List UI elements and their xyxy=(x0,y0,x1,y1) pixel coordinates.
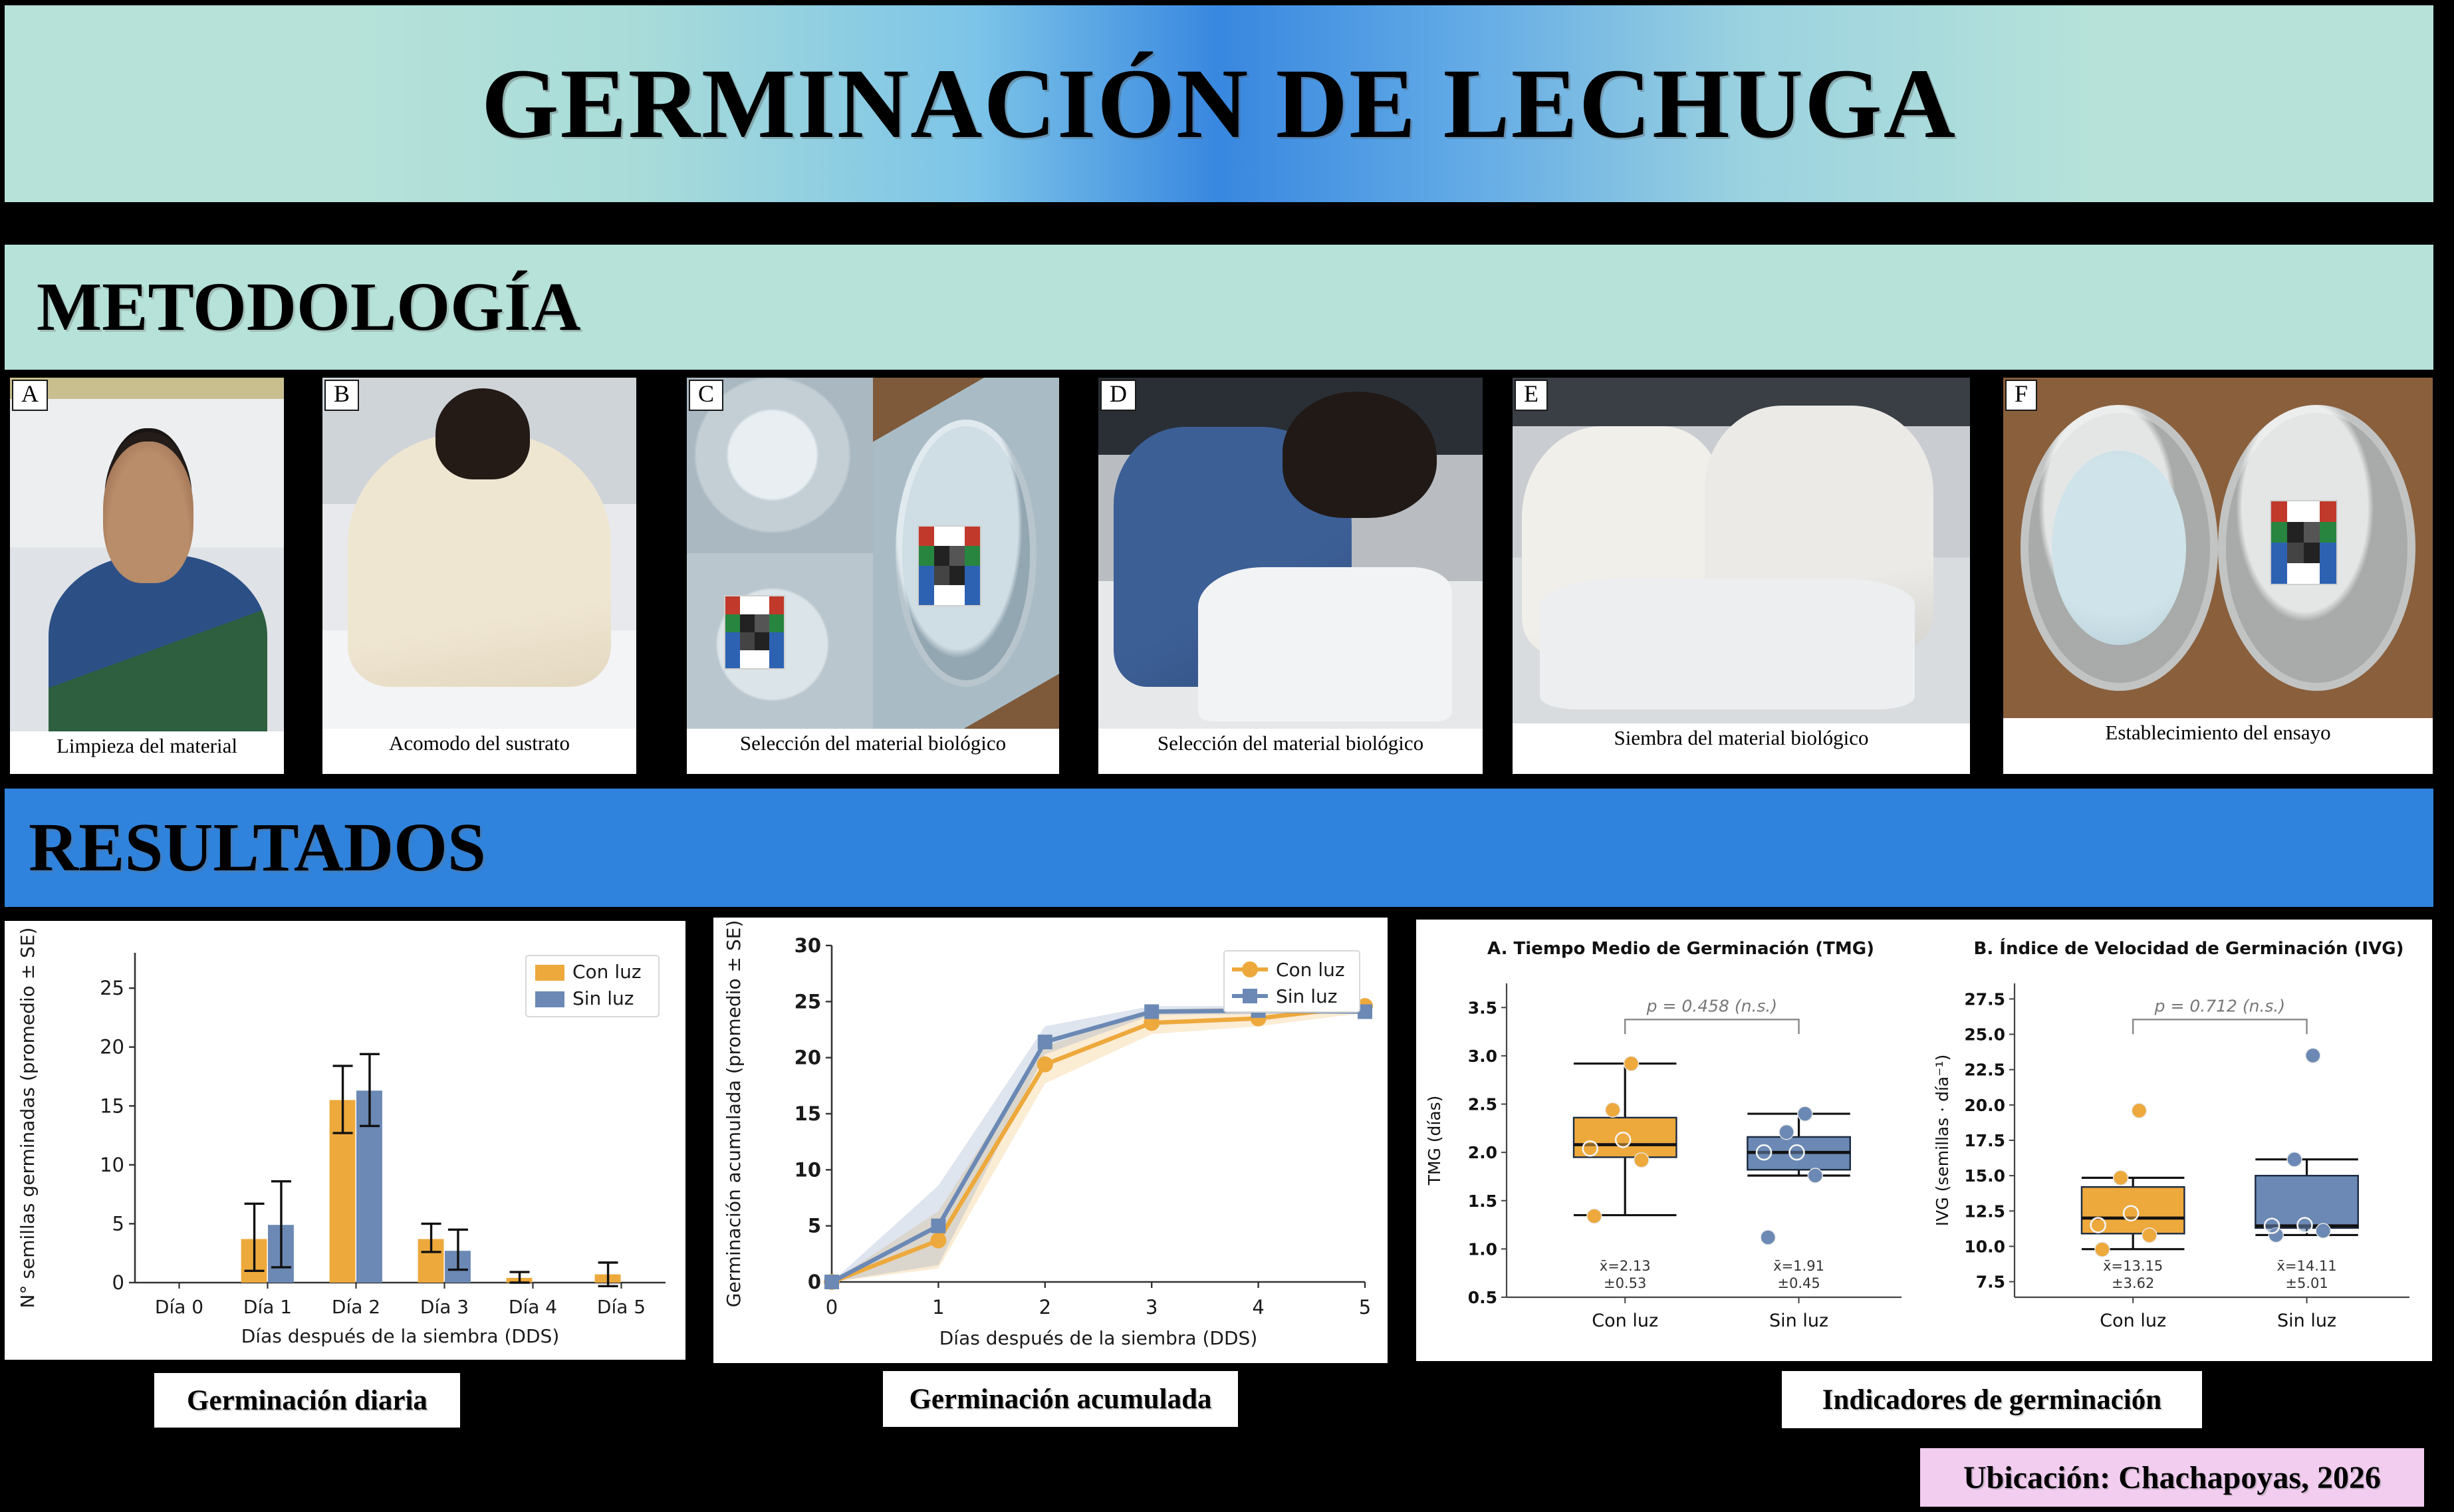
svg-text:x̄=1.91: x̄=1.91 xyxy=(1773,1258,1824,1274)
svg-text:1: 1 xyxy=(932,1296,944,1319)
svg-text:2.0: 2.0 xyxy=(1468,1143,1497,1162)
poster-root: GERMINACIÓN DE LECHUGA METODOLOGÍA A Lim… xyxy=(0,0,2454,1512)
svg-text:x̄=13.15: x̄=13.15 xyxy=(2103,1258,2163,1274)
svg-text:Sin luz: Sin luz xyxy=(572,987,634,1009)
chart-caption-indicators: Indicadores de germinación xyxy=(1782,1371,2202,1428)
svg-text:25: 25 xyxy=(100,977,124,999)
svg-text:0: 0 xyxy=(826,1296,838,1319)
panel-caption-d: Selección del material biológico xyxy=(1098,729,1483,753)
svg-text:p = 0.712 (n.s.): p = 0.712 (n.s.) xyxy=(2154,996,2286,1015)
svg-text:3.5: 3.5 xyxy=(1468,998,1497,1017)
panel-label-c: C xyxy=(689,380,723,411)
svg-text:x̄=2.13: x̄=2.13 xyxy=(1600,1258,1651,1274)
svg-text:15: 15 xyxy=(795,1102,821,1125)
svg-text:20.0: 20.0 xyxy=(1964,1096,2005,1115)
panel-label-f: F xyxy=(2005,380,2037,411)
svg-text:10: 10 xyxy=(100,1154,124,1176)
photo-e-image xyxy=(1513,378,1970,723)
svg-text:0.5: 0.5 xyxy=(1468,1288,1497,1307)
svg-text:15.0: 15.0 xyxy=(1964,1166,2005,1186)
bar-chart-canvas: 0510152025N° semillas germinadas (promed… xyxy=(5,921,685,1360)
svg-text:1.5: 1.5 xyxy=(1468,1192,1497,1211)
svg-text:0: 0 xyxy=(808,1271,821,1293)
svg-text:15: 15 xyxy=(100,1094,124,1117)
svg-text:27.5: 27.5 xyxy=(1964,989,2005,1009)
svg-text:Día 4: Día 4 xyxy=(509,1296,557,1318)
location-badge: Ubicación: Chachapoyas, 2026 xyxy=(1920,1448,2424,1507)
qr-code-icon xyxy=(918,525,981,606)
svg-text:2: 2 xyxy=(1039,1296,1051,1319)
svg-text:22.5: 22.5 xyxy=(1964,1061,2005,1080)
svg-text:12.5: 12.5 xyxy=(1964,1201,2005,1221)
boxplot-chart-canvas: A. Tiempo Medio de Germinación (TMG)0.51… xyxy=(1416,920,2432,1361)
svg-text:Días después de la siembra (DD: Días después de la siembra (DDS) xyxy=(939,1327,1258,1349)
methodology-panel-d[interactable]: D Selección del material biológico xyxy=(1098,378,1483,774)
methodology-panel-e[interactable]: E Siembra del material biológico xyxy=(1513,378,1970,774)
chart-caption-daily: Germinación diaria xyxy=(154,1373,460,1428)
chart-caption-cumulative: Germinación acumulada xyxy=(883,1371,1238,1427)
svg-text:±0.45: ±0.45 xyxy=(1777,1275,1820,1291)
methodology-panel-b[interactable]: B Acomodo del sustrato xyxy=(322,378,636,774)
svg-text:1.0: 1.0 xyxy=(1468,1239,1497,1259)
panel-caption-a: Limpieza del material xyxy=(10,731,284,756)
panel-caption-c: Selección del material biológico xyxy=(687,729,1059,753)
panel-label-a: A xyxy=(12,380,48,411)
svg-text:Con luz: Con luz xyxy=(572,961,642,983)
svg-text:Día 0: Día 0 xyxy=(155,1296,203,1318)
photo-c-image xyxy=(687,378,1059,729)
section-title-methodology: METODOLOGÍA xyxy=(37,273,581,342)
svg-text:Con luz: Con luz xyxy=(1592,1311,1658,1331)
methodology-panel-f[interactable]: F Establecimiento del ensayo xyxy=(2003,378,2433,774)
svg-text:2.5: 2.5 xyxy=(1468,1095,1497,1114)
line-chart-canvas: 051015202530012345Germinación acumulada … xyxy=(713,918,1388,1363)
svg-text:0: 0 xyxy=(112,1271,124,1294)
photo-d-image xyxy=(1098,378,1483,729)
svg-text:5: 5 xyxy=(808,1215,821,1237)
svg-text:20: 20 xyxy=(795,1047,821,1069)
panel-caption-f: Establecimiento del ensayo xyxy=(2003,718,2433,743)
svg-text:Día 3: Día 3 xyxy=(420,1296,469,1318)
svg-text:p = 0.458 (n.s.): p = 0.458 (n.s.) xyxy=(1646,996,1778,1015)
photo-a-image xyxy=(10,378,284,731)
section-title-results: RESULTADOS xyxy=(29,813,486,882)
svg-text:10.0: 10.0 xyxy=(1964,1237,2005,1256)
panel-caption-b: Acomodo del sustrato xyxy=(322,729,636,753)
poster-title-band: GERMINACIÓN DE LECHUGA xyxy=(5,5,2433,202)
panel-caption-e: Siembra del material biológico xyxy=(1513,723,1970,748)
svg-text:A. Tiempo Medio de Germinación: A. Tiempo Medio de Germinación (TMG) xyxy=(1487,939,1874,959)
chart-germinacion-acumulada[interactable]: 051015202530012345Germinación acumulada … xyxy=(713,918,1388,1363)
svg-text:5: 5 xyxy=(112,1212,124,1235)
svg-text:5: 5 xyxy=(1359,1296,1371,1319)
svg-text:20: 20 xyxy=(100,1036,124,1059)
svg-text:25.0: 25.0 xyxy=(1964,1025,2005,1045)
svg-text:Día 5: Día 5 xyxy=(597,1296,646,1318)
methodology-panel-a[interactable]: A Limpieza del material xyxy=(10,378,284,774)
svg-text:Día 2: Día 2 xyxy=(332,1296,380,1318)
section-header-methodology: METODOLOGÍA xyxy=(5,245,2433,370)
svg-text:7.5: 7.5 xyxy=(1976,1273,2005,1292)
svg-text:±5.01: ±5.01 xyxy=(2285,1275,2328,1291)
svg-text:x̄=14.11: x̄=14.11 xyxy=(2276,1258,2336,1274)
svg-text:17.5: 17.5 xyxy=(1964,1131,2005,1150)
svg-text:4: 4 xyxy=(1252,1296,1264,1319)
svg-text:Con luz: Con luz xyxy=(2100,1311,2166,1331)
section-header-results: RESULTADOS xyxy=(5,789,2433,907)
svg-text:±0.53: ±0.53 xyxy=(1604,1275,1646,1291)
qr-code-icon xyxy=(2270,500,2338,585)
svg-text:30: 30 xyxy=(795,934,821,957)
chart-germinacion-diaria[interactable]: 0510152025N° semillas germinadas (promed… xyxy=(5,921,685,1360)
svg-text:10: 10 xyxy=(795,1158,821,1181)
svg-text:TMG (días): TMG (días) xyxy=(1425,1096,1444,1186)
svg-text:±3.62: ±3.62 xyxy=(2112,1275,2154,1291)
panel-label-e: E xyxy=(1515,380,1548,411)
svg-text:N° semillas germinadas (promed: N° semillas germinadas (promedio ± SE) xyxy=(17,928,39,1309)
svg-text:Sin luz: Sin luz xyxy=(2277,1311,2336,1331)
page-title: GERMINACIÓN DE LECHUGA xyxy=(481,54,1957,154)
svg-text:25: 25 xyxy=(795,990,821,1013)
methodology-photo-strip: A Limpieza del material B Acomodo del su… xyxy=(5,378,2454,777)
svg-text:3.0: 3.0 xyxy=(1468,1047,1497,1066)
qr-code-icon xyxy=(724,595,785,670)
svg-text:IVG (semillas · día⁻¹): IVG (semillas · día⁻¹) xyxy=(1933,1055,1952,1226)
svg-text:3: 3 xyxy=(1146,1296,1158,1319)
photo-f-image xyxy=(2003,378,2433,718)
svg-text:Con luz: Con luz xyxy=(1276,959,1345,981)
chart-indicadores-germinacion[interactable]: A. Tiempo Medio de Germinación (TMG)0.51… xyxy=(1416,920,2432,1361)
svg-text:Sin luz: Sin luz xyxy=(1769,1311,1828,1331)
svg-text:Germinación acumulada (promedi: Germinación acumulada (promedio ± SE) xyxy=(723,920,745,1308)
panel-label-d: D xyxy=(1100,380,1136,411)
svg-text:Sin luz: Sin luz xyxy=(1276,985,1337,1007)
panel-label-b: B xyxy=(324,380,359,411)
methodology-panel-c[interactable]: C Selección del material biológico xyxy=(687,378,1059,774)
svg-text:Día 1: Día 1 xyxy=(243,1296,292,1318)
svg-text:Días después de la siembra (DD: Días después de la siembra (DDS) xyxy=(241,1325,560,1347)
svg-text:B. Índice de Velocidad de Germ: B. Índice de Velocidad de Germinación (I… xyxy=(1974,938,2404,959)
photo-b-image xyxy=(322,378,636,729)
